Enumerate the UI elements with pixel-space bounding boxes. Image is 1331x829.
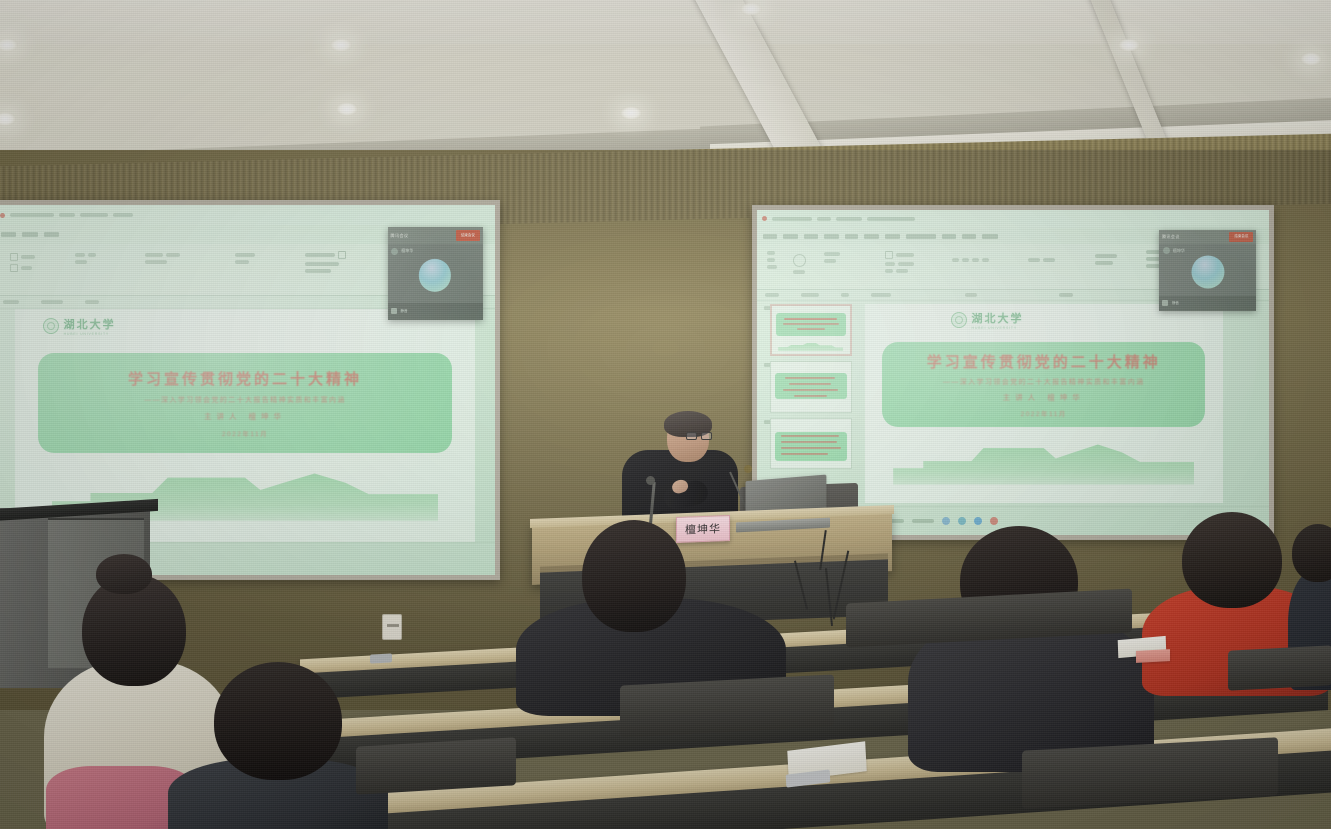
statusbar-chip bbox=[912, 519, 934, 523]
seat-back bbox=[1228, 645, 1331, 690]
glasses-right-lens bbox=[701, 432, 712, 440]
video-conference-window-right[interactable]: 腾讯会议 结束会议 檀坤华 静音 bbox=[1159, 230, 1256, 311]
thumbnail-text-line bbox=[781, 435, 840, 437]
thumbnail-card[interactable] bbox=[770, 418, 852, 470]
remote-control bbox=[370, 653, 392, 663]
ribbon-label bbox=[21, 266, 32, 270]
slide-presenter: 主讲人 檀坤华 bbox=[204, 411, 286, 422]
vc-mute-label: 静音 bbox=[401, 309, 408, 314]
ribbon-label bbox=[952, 258, 959, 262]
university-subtitle: HUBEI UNIVERSITY bbox=[972, 326, 1024, 330]
ceiling-downlight bbox=[1300, 52, 1322, 66]
status-chip bbox=[41, 300, 63, 304]
slide-title: 学习宣传贯彻党的二十大精神 bbox=[128, 368, 362, 389]
status-slide-number bbox=[765, 293, 779, 297]
slide-title: 学习宣传贯彻党的二十大精神 bbox=[927, 351, 1161, 372]
vc-titlebar: 腾讯会议 结束会议 bbox=[1159, 230, 1256, 245]
ribbon-label bbox=[972, 258, 979, 262]
vc-end-meeting-label: 结束会议 bbox=[1234, 234, 1248, 239]
statusbar-chip bbox=[890, 519, 904, 523]
status-page-setup bbox=[801, 293, 819, 297]
wall-outlet bbox=[382, 614, 402, 640]
ribbon-label bbox=[824, 252, 840, 256]
university-subtitle: HUBEI UNIVERSITY bbox=[64, 332, 116, 336]
thumbnail-text-line bbox=[784, 318, 837, 320]
vc-titlebar: 腾讯会议 结束会议 bbox=[388, 227, 483, 244]
thumbnail-text-line bbox=[783, 323, 839, 325]
thumbnail-text-line bbox=[783, 389, 838, 391]
titlebar-chip bbox=[113, 213, 133, 217]
titlebar-chip bbox=[80, 213, 108, 217]
menu-item-section[interactable] bbox=[962, 234, 976, 239]
vc-participant-avatar bbox=[1163, 247, 1170, 254]
vc-participant-row: 檀坤华 bbox=[391, 248, 413, 255]
thumbnail-text-line bbox=[785, 377, 835, 379]
view-normal-icon[interactable] bbox=[942, 517, 950, 525]
ceiling-downlight bbox=[336, 102, 358, 116]
status-chip bbox=[85, 300, 99, 304]
ribbon-label bbox=[885, 262, 895, 266]
vc-mute-button[interactable] bbox=[391, 308, 397, 314]
ribbon-label bbox=[793, 270, 805, 274]
university-logo-right: 湖北大学 HUBEI UNIVERSITY bbox=[951, 310, 1024, 330]
slide-title-block-left: 学习宣传贯彻党的二十大精神 ——深入学习领会党的二十大报告精神实质和丰富内涵 主… bbox=[38, 353, 452, 453]
status-chip bbox=[3, 300, 19, 304]
vc-participant-avatar bbox=[391, 248, 398, 255]
menu-item-slideshow[interactable] bbox=[885, 234, 900, 239]
ribbon-label bbox=[166, 253, 180, 257]
vc-end-meeting-label: 结束会议 bbox=[461, 233, 475, 238]
ribbon-label bbox=[898, 262, 914, 266]
ribbon-label bbox=[1095, 254, 1117, 258]
ceiling-downlight bbox=[740, 2, 762, 16]
menu-item-file[interactable] bbox=[763, 234, 777, 239]
menu-item-insert[interactable] bbox=[804, 234, 818, 239]
video-conference-window-left[interactable]: 腾讯会议 结束会议 檀坤华 静音 bbox=[388, 227, 483, 320]
audience-member bbox=[168, 662, 388, 829]
ribbon-label bbox=[305, 269, 331, 273]
ribbon-label bbox=[21, 255, 35, 259]
titlebar-filename bbox=[772, 217, 812, 221]
ribbon-label bbox=[896, 269, 908, 273]
ribbon-label bbox=[305, 253, 335, 257]
app-titlebar-left bbox=[0, 205, 495, 225]
vc-title: 腾讯会议 bbox=[391, 233, 409, 239]
slide-thumbnail[interactable] bbox=[765, 418, 852, 470]
slide-thumbnail[interactable] bbox=[765, 361, 852, 413]
ribbon-label bbox=[145, 260, 167, 264]
slide-title-block-right: 学习宣传贯彻党的二十大精神 ——深入学习领会党的二十大报告精神实质和丰富内涵 主… bbox=[882, 342, 1205, 427]
menu-item-review[interactable] bbox=[906, 234, 936, 239]
ribbon-label bbox=[75, 253, 85, 257]
university-seal-icon bbox=[951, 312, 967, 328]
view-reading-icon[interactable] bbox=[974, 517, 982, 525]
university-name: 湖北大学 bbox=[972, 310, 1024, 326]
ribbon-label bbox=[1043, 258, 1055, 262]
university-seal-icon bbox=[43, 318, 59, 334]
ribbon-label bbox=[896, 253, 914, 257]
thumbnail-card-selected[interactable] bbox=[770, 304, 852, 356]
university-name: 湖北大学 bbox=[64, 316, 116, 332]
vc-footer-toolbar[interactable]: 静音 bbox=[1159, 296, 1256, 311]
ribbon-label bbox=[1095, 261, 1113, 265]
desk-microphone-head bbox=[744, 465, 752, 473]
thumbnail-text-line bbox=[797, 328, 825, 330]
ceiling-downlight bbox=[1118, 38, 1140, 52]
ribbon-label bbox=[88, 253, 96, 257]
titlebar-chip bbox=[867, 217, 915, 221]
audience-head-hair bbox=[1292, 524, 1331, 582]
menu-item-member[interactable] bbox=[982, 234, 998, 239]
status-chip bbox=[1059, 293, 1073, 297]
vc-mute-button[interactable] bbox=[1162, 300, 1168, 306]
titlebar-chip bbox=[59, 213, 75, 217]
menu-item-insert[interactable] bbox=[44, 232, 59, 237]
vc-mute-label: 静音 bbox=[1172, 301, 1179, 306]
ribbon-icon[interactable] bbox=[10, 264, 18, 272]
ribbon-newslide-icon[interactable] bbox=[885, 251, 893, 259]
ribbon-label bbox=[962, 258, 969, 262]
ribbon-label bbox=[824, 259, 836, 263]
slide-date: 2022年11月 bbox=[1021, 408, 1067, 418]
thumbnail-title-block bbox=[775, 432, 847, 462]
status-theme bbox=[841, 293, 849, 297]
audience-head-hair bbox=[1182, 512, 1282, 608]
vc-participant-row: 檀坤华 bbox=[1163, 247, 1185, 254]
menu-item-design[interactable] bbox=[824, 234, 839, 239]
app-logo-icon bbox=[0, 213, 5, 218]
slide-thumbnail-panel[interactable] bbox=[765, 304, 852, 502]
slide-subtitle: ——深入学习领会党的二十大报告精神实质和丰富内涵 bbox=[943, 377, 1145, 387]
ribbon-label bbox=[767, 251, 775, 255]
ribbon-label bbox=[767, 258, 775, 262]
speaker-glasses-icon bbox=[686, 432, 714, 440]
audience-hair-bun bbox=[96, 554, 152, 594]
thumbnail-title-block bbox=[775, 373, 847, 399]
status-view-mode bbox=[871, 293, 891, 297]
colored-paper bbox=[1136, 649, 1170, 663]
thumbnail-text-line bbox=[781, 447, 841, 449]
vc-end-meeting-button[interactable]: 结束会议 bbox=[456, 230, 479, 242]
menu-item-animations[interactable] bbox=[864, 234, 879, 239]
vc-participant-name: 檀坤华 bbox=[401, 248, 413, 254]
slide-date: 2022年11月 bbox=[222, 428, 268, 438]
menu-item-home[interactable] bbox=[22, 232, 38, 237]
thumbnail-card[interactable] bbox=[770, 361, 852, 413]
thumbnail-title-block bbox=[776, 313, 846, 336]
app-titlebar-right bbox=[757, 210, 1269, 228]
lecture-hall-photo: 湖北大学 HUBEI UNIVERSITY 学习宣传贯彻党的二十大精神 ——深入… bbox=[0, 0, 1331, 829]
ribbon-icon[interactable] bbox=[338, 251, 346, 259]
ribbon-label bbox=[885, 269, 893, 273]
glasses-left-lens bbox=[686, 432, 697, 440]
ribbon-label bbox=[235, 260, 249, 264]
app-logo-icon bbox=[762, 216, 767, 221]
titlebar-chip bbox=[836, 217, 862, 221]
ribbon-label bbox=[305, 262, 339, 266]
ribbon-paste-icon[interactable] bbox=[793, 254, 806, 267]
ribbon-icon[interactable] bbox=[10, 253, 18, 261]
audience-head-hair bbox=[582, 520, 686, 632]
thumbnail-text-line bbox=[781, 453, 828, 455]
vc-end-meeting-button[interactable]: 结束会议 bbox=[1229, 232, 1253, 242]
vc-video-tile bbox=[1191, 255, 1224, 288]
slide-canvas-right[interactable]: 湖北大学 HUBEI UNIVERSITY 学习宣传贯彻党的二十大精神 ——深入… bbox=[865, 304, 1223, 502]
ribbon-label bbox=[145, 253, 163, 257]
slide-thumbnail[interactable] bbox=[765, 304, 852, 356]
menu-item-view[interactable] bbox=[942, 234, 956, 239]
ribbon-label bbox=[982, 258, 989, 262]
menu-item-transitions[interactable] bbox=[845, 234, 858, 239]
titlebar-filename bbox=[10, 213, 54, 217]
status-chip bbox=[965, 293, 977, 297]
thumbnail-text-line bbox=[794, 395, 827, 397]
ribbon-label bbox=[1028, 258, 1040, 262]
university-logo-left: 湖北大学 HUBEI UNIVERSITY bbox=[43, 316, 116, 336]
slide-campus-illustration bbox=[893, 441, 1194, 485]
thumbnail-text-line bbox=[789, 383, 831, 385]
vc-title: 腾讯会议 bbox=[1162, 234, 1180, 240]
titlebar-chip bbox=[817, 217, 831, 221]
view-sorter-icon[interactable] bbox=[958, 517, 966, 525]
ribbon-label bbox=[767, 265, 777, 269]
menu-item-home[interactable] bbox=[783, 234, 798, 239]
ceiling-downlight bbox=[330, 38, 352, 52]
ribbon-label bbox=[235, 253, 255, 257]
vc-video-tile bbox=[419, 259, 451, 291]
slide-subtitle: ——深入学习领会党的二十大报告精神实质和丰富内涵 bbox=[144, 395, 346, 405]
vc-participant-name: 檀坤华 bbox=[1173, 248, 1185, 254]
slideshow-icon[interactable] bbox=[990, 517, 998, 525]
thumbnail-campus-illustration bbox=[778, 342, 843, 351]
ceiling-downlight bbox=[620, 106, 642, 120]
seat-back bbox=[356, 737, 516, 795]
audience-head-hair bbox=[214, 662, 342, 780]
thumbnail-text-line bbox=[781, 441, 837, 443]
ribbon-label bbox=[75, 260, 87, 264]
vc-footer-toolbar[interactable]: 静音 bbox=[388, 303, 483, 320]
menu-item-file[interactable] bbox=[1, 232, 16, 237]
slide-presenter: 主讲人 檀坤华 bbox=[1003, 392, 1085, 403]
speaker-microphone-head bbox=[646, 476, 655, 485]
